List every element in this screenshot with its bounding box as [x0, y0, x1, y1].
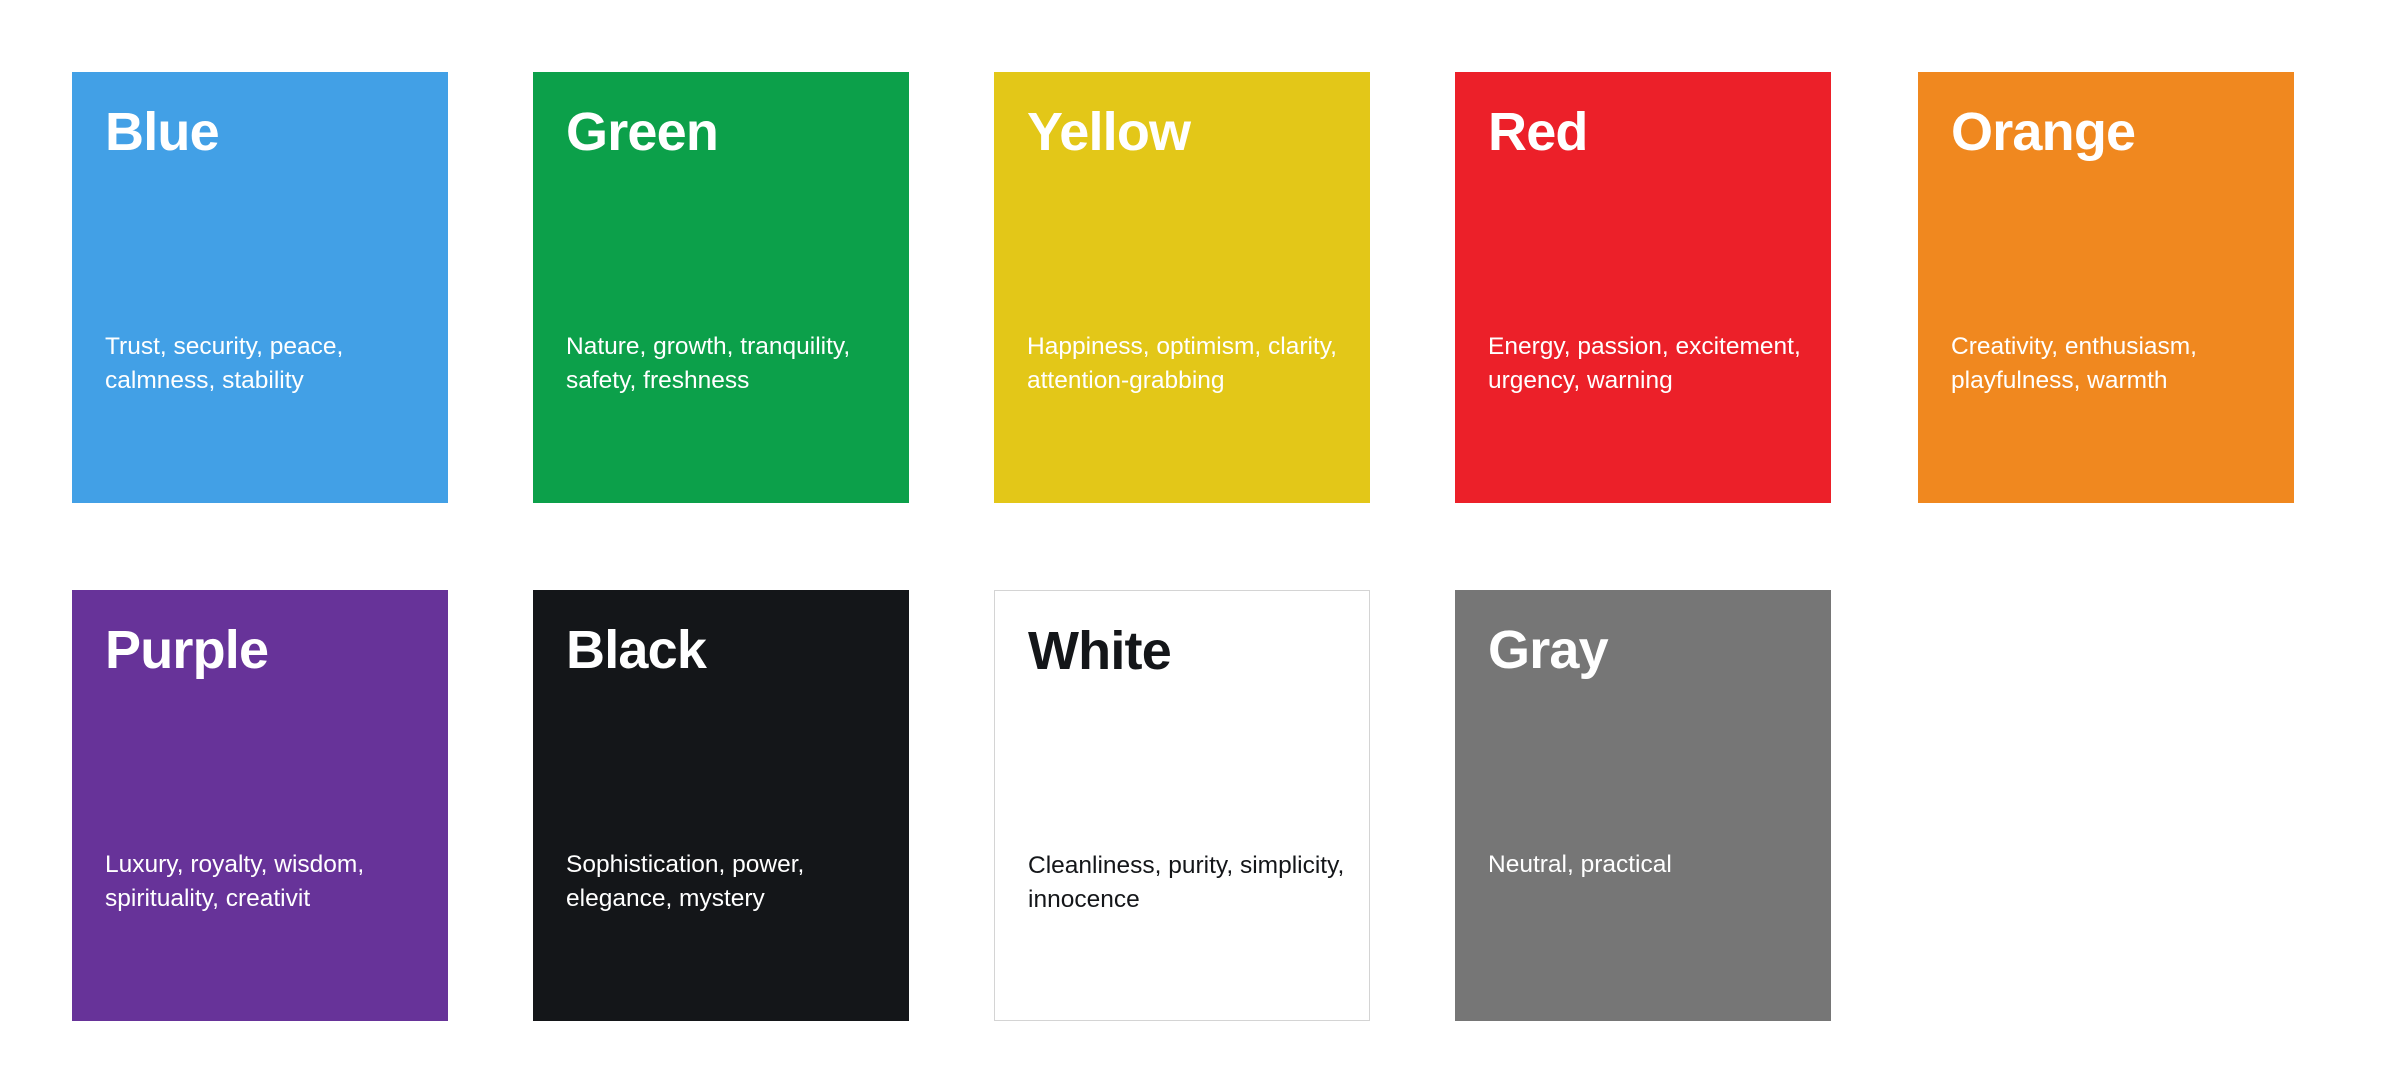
color-card-white[interactable]: White Cleanliness, purity, simplicity, i…	[994, 590, 1370, 1021]
color-card-gray[interactable]: Gray Neutral, practical	[1455, 590, 1831, 1021]
color-card-description: Happiness, optimism, clarity, attention-…	[1027, 330, 1352, 397]
color-card-description: Cleanliness, purity, simplicity, innocen…	[1028, 849, 1351, 916]
color-card-title: Black	[566, 620, 877, 680]
color-card-title: Red	[1488, 102, 1799, 162]
color-card-purple[interactable]: Purple Luxury, royalty, wisdom, spiritua…	[72, 590, 448, 1021]
color-card-red[interactable]: Red Energy, passion, excitement, urgency…	[1455, 72, 1831, 503]
color-card-yellow[interactable]: Yellow Happiness, optimism, clarity, att…	[994, 72, 1370, 503]
color-card-orange[interactable]: Orange Creativity, enthusiasm, playfulne…	[1918, 72, 2294, 503]
color-card-title: White	[1028, 621, 1337, 681]
color-card-description: Trust, security, peace, calmness, stabil…	[105, 330, 430, 397]
color-card-description: Creativity, enthusiasm, playfulness, war…	[1951, 330, 2276, 397]
color-card-green[interactable]: Green Nature, growth, tranquility, safet…	[533, 72, 909, 503]
color-card-title: Orange	[1951, 102, 2262, 162]
color-card-description: Energy, passion, excitement, urgency, wa…	[1488, 330, 1813, 397]
color-card-title: Gray	[1488, 620, 1799, 680]
color-card-title: Blue	[105, 102, 416, 162]
color-card-title: Yellow	[1027, 102, 1338, 162]
color-card-description: Sophistication, power, elegance, mystery	[566, 848, 891, 915]
color-card-title: Green	[566, 102, 877, 162]
color-card-black[interactable]: Black Sophistication, power, elegance, m…	[533, 590, 909, 1021]
color-card-title: Purple	[105, 620, 416, 680]
color-card-description: Neutral, practical	[1488, 848, 1813, 882]
color-card-description: Luxury, royalty, wisdom, spirituality, c…	[105, 848, 430, 915]
color-card-description: Nature, growth, tranquility, safety, fre…	[566, 330, 891, 397]
color-swatch-board: Blue Trust, security, peace, calmness, s…	[0, 0, 2393, 1080]
color-card-blue[interactable]: Blue Trust, security, peace, calmness, s…	[72, 72, 448, 503]
